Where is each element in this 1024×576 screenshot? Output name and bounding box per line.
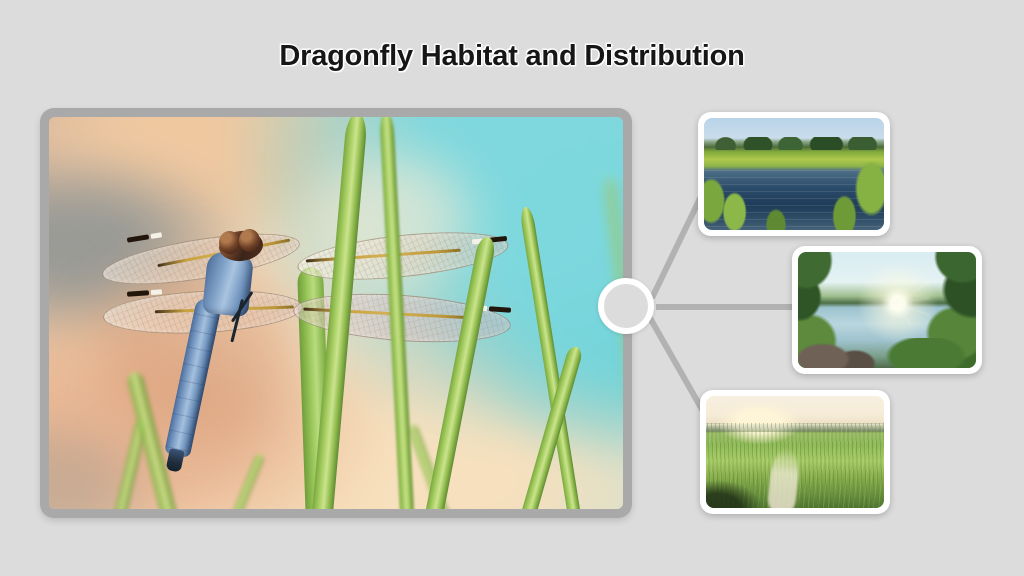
dragonfly-thorax <box>202 251 254 317</box>
main-photo-frame[interactable] <box>40 108 632 518</box>
thumbnail-marsh-pond[interactable] <box>698 112 890 236</box>
dragonfly-pterostigma <box>127 234 150 242</box>
grass-shadow <box>706 468 767 508</box>
lake-shore <box>798 338 976 368</box>
sunset-salt-marsh-image <box>706 396 884 508</box>
treeline <box>704 137 884 150</box>
dragonfly-wing-upper-left <box>99 224 303 295</box>
dragonfly-eye <box>219 231 240 254</box>
thumbnail-forest-lake[interactable] <box>792 246 982 374</box>
connection-hub-node[interactable] <box>598 278 654 334</box>
page-title: Dragonfly Habitat and Distribution <box>0 40 1024 73</box>
marsh-reeds <box>704 161 884 230</box>
slide-canvas: Dragonfly Habitat and Distribution <box>0 0 1024 576</box>
marsh-pond-image <box>704 118 884 230</box>
dragonfly-eye <box>239 229 260 252</box>
forest-lake-image <box>798 252 976 368</box>
dragonfly-main-photo[interactable] <box>49 117 623 509</box>
thumbnail-sunset-salt-marsh[interactable] <box>700 390 890 514</box>
dragonfly-pterostigma <box>127 290 149 297</box>
